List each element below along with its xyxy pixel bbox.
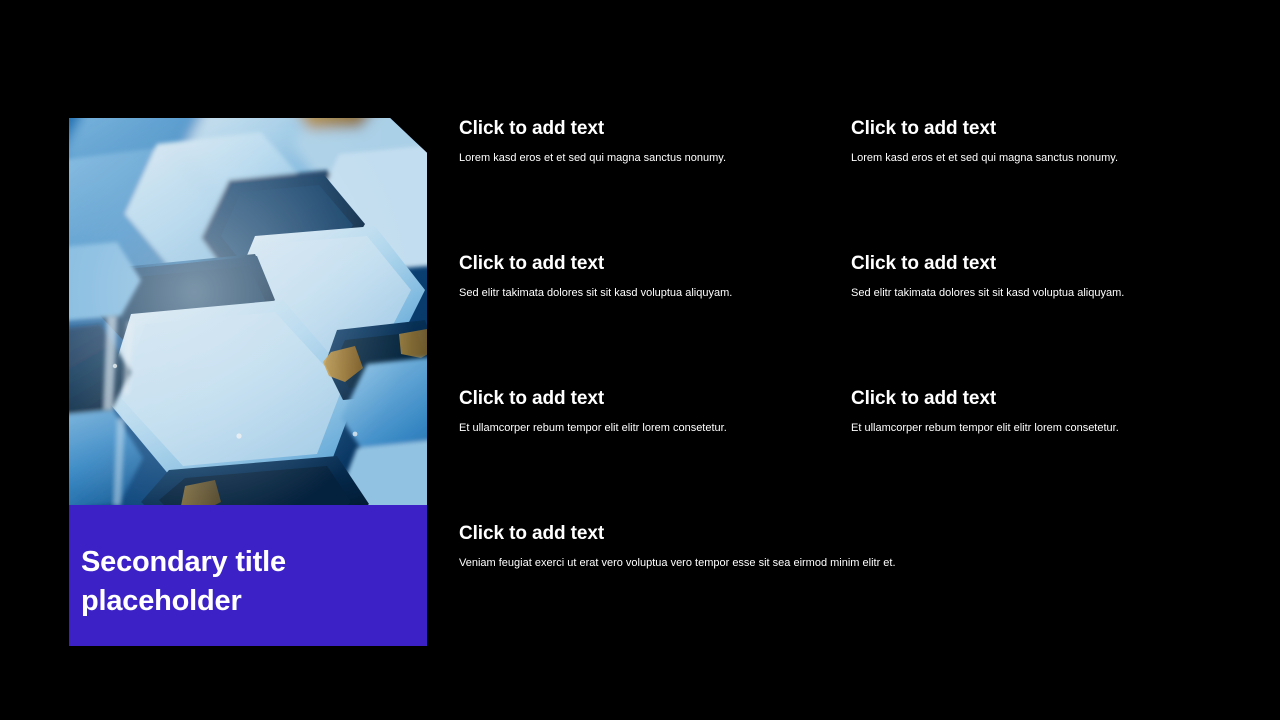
item-body[interactable]: Lorem kasd eros et et sed qui magna sanc… <box>459 151 859 166</box>
item-heading[interactable]: Click to add text <box>459 523 859 546</box>
item-heading[interactable]: Click to add text <box>851 118 1251 141</box>
item-heading[interactable]: Click to add text <box>459 253 859 276</box>
item-heading[interactable]: Click to add text <box>851 388 1251 411</box>
text-item[interactable]: Click to add text Et ullamcorper rebum t… <box>459 388 859 436</box>
presentation-slide: Secondary title placeholder Click to add… <box>0 0 1280 720</box>
text-item[interactable]: Click to add text Lorem kasd eros et et … <box>459 118 859 166</box>
secondary-title-text: Secondary title placeholder <box>81 543 415 620</box>
item-body[interactable]: Veniam feugiat exerci ut erat vero volup… <box>459 556 1019 571</box>
text-item[interactable]: Click to add text Sed elitr takimata dol… <box>459 253 859 301</box>
item-heading[interactable]: Click to add text <box>851 253 1251 276</box>
text-item[interactable]: Click to add text Veniam feugiat exerci … <box>459 523 859 571</box>
item-heading[interactable]: Click to add text <box>459 388 859 411</box>
text-item[interactable]: Click to add text Sed elitr takimata dol… <box>851 253 1251 301</box>
secondary-title-placeholder[interactable]: Secondary title placeholder <box>69 505 427 646</box>
item-body[interactable]: Et ullamcorper rebum tempor elit elitr l… <box>851 421 1251 436</box>
item-body[interactable]: Et ullamcorper rebum tempor elit elitr l… <box>459 421 859 436</box>
text-item[interactable]: Click to add text Et ullamcorper rebum t… <box>851 388 1251 436</box>
text-item[interactable]: Click to add text Lorem kasd eros et et … <box>851 118 1251 166</box>
item-body[interactable]: Sed elitr takimata dolores sit sit kasd … <box>851 286 1251 301</box>
left-visual-block: Secondary title placeholder <box>69 118 427 646</box>
item-heading[interactable]: Click to add text <box>459 118 859 141</box>
item-body[interactable]: Lorem kasd eros et et sed qui magna sanc… <box>851 151 1251 166</box>
item-body[interactable]: Sed elitr takimata dolores sit sit kasd … <box>459 286 859 301</box>
blue-hexagon-3d-pattern-image[interactable] <box>69 118 427 505</box>
